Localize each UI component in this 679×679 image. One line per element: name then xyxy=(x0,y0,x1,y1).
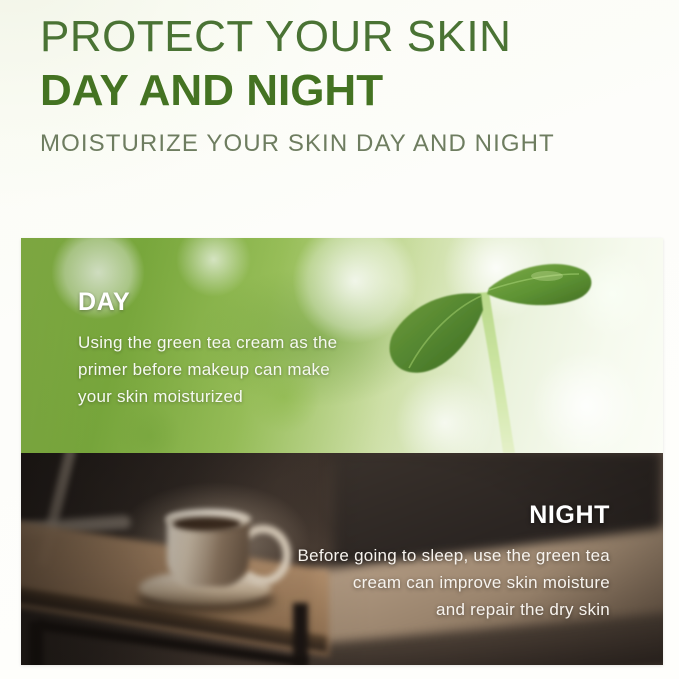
panel-stack: DAY Using the green tea cream as the pri… xyxy=(21,238,663,665)
night-text-block: NIGHT Before going to sleep, use the gre… xyxy=(298,501,610,623)
day-label: DAY xyxy=(78,288,337,317)
subheadline: MOISTURIZE YOUR SKIN DAY AND NIGHT xyxy=(40,130,650,158)
header-block: PROTECT YOUR SKIN DAY AND NIGHT MOISTURI… xyxy=(40,12,650,158)
day-panel: DAY Using the green tea cream as the pri… xyxy=(21,238,663,453)
night-panel: NIGHT Before going to sleep, use the gre… xyxy=(21,453,663,665)
product-infographic: PROTECT YOUR SKIN DAY AND NIGHT MOISTURI… xyxy=(0,0,679,679)
day-text-block: DAY Using the green tea cream as the pri… xyxy=(78,288,337,410)
headline-primary: PROTECT YOUR SKIN xyxy=(40,12,650,62)
day-description: Using the green tea cream as the primer … xyxy=(78,329,337,410)
night-label: NIGHT xyxy=(298,501,610,530)
headline-secondary: DAY AND NIGHT xyxy=(40,66,650,116)
night-description: Before going to sleep, use the green tea… xyxy=(298,542,610,623)
